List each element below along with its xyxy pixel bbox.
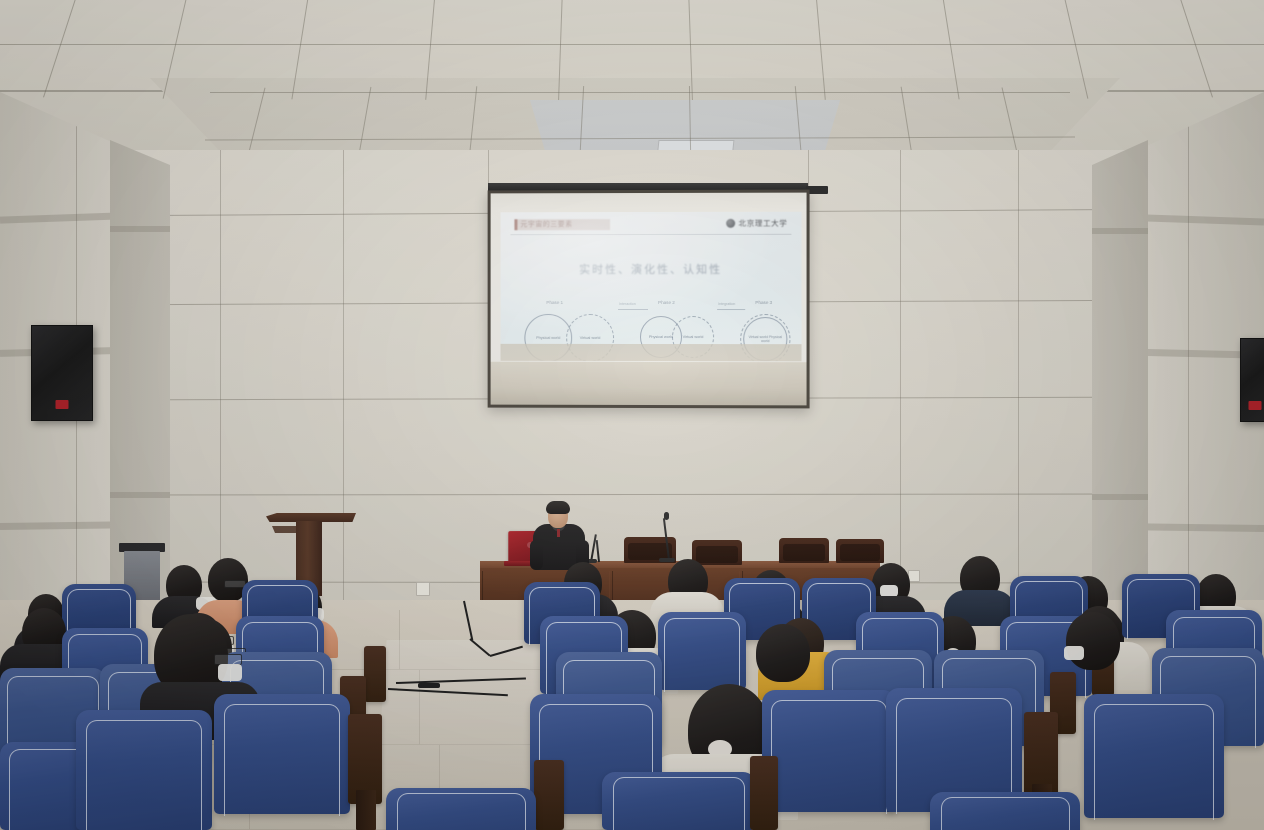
seat[interactable] [658,612,746,690]
microphone-base-1 [659,558,675,562]
seat[interactable] [602,772,756,830]
armrest [364,646,386,702]
floor-cable-connector [418,683,440,688]
screen-lower-blank-area [491,362,807,406]
armrest [750,756,778,830]
armrest-post [356,790,376,830]
person-head [1066,612,1120,670]
arrow-1-label: Interaction [619,302,636,306]
face-mask [218,664,242,681]
phase-1-label: Phase 1 [546,300,563,305]
presenter-hair [546,501,570,514]
head-table-chair-3 [779,538,829,563]
presentation-slide: 元宇宙的三要素 北京理工大学 实时性、演化性、认知性 Phase 1 Physi… [501,212,802,362]
speaker-brand-badge [56,400,69,409]
arrow-2-line [717,309,745,310]
arrow-1-line [618,309,648,310]
microphone-head-1 [664,512,669,520]
right-wall-return [1092,140,1148,640]
logo-text: 北京理工大学 [739,218,788,229]
seat[interactable] [214,694,350,814]
wall-outlet-center [416,582,430,596]
projection-screen: 元宇宙的三要素 北京理工大学 实时性、演化性、认知性 Phase 1 Physi… [488,190,810,409]
slide-title: 实时性、演化性、认知性 [501,261,802,277]
seat[interactable] [930,792,1080,830]
face-mask [1064,646,1084,660]
head-table-chair-4 [836,539,884,563]
phase-2-label: Phase 2 [658,300,675,305]
right-wall-speaker [1240,338,1264,422]
head-table-chair-2 [692,540,742,565]
armrest [534,760,564,830]
slide-foot-band [501,344,802,361]
slide-section-tag: 元宇宙的三要素 [514,219,610,230]
university-logo: 北京理工大学 [727,218,788,229]
left-wall-speaker [31,325,93,421]
seat[interactable] [386,788,536,830]
person-head [756,624,810,682]
presenter-arm-left [530,540,543,570]
speaker-brand-badge-right [1249,401,1262,410]
arrow-2-label: Integration [718,302,735,306]
phase-3-label: Phase 3 [755,300,772,305]
seat[interactable] [1084,694,1224,818]
seat[interactable] [762,690,896,812]
lecture-hall-photo: 元宇宙的三要素 北京理工大学 实时性、演化性、认知性 Phase 1 Physi… [0,0,1264,830]
logo-mark-icon [727,219,736,228]
seat[interactable] [76,710,212,830]
presenter-tie [557,529,560,537]
